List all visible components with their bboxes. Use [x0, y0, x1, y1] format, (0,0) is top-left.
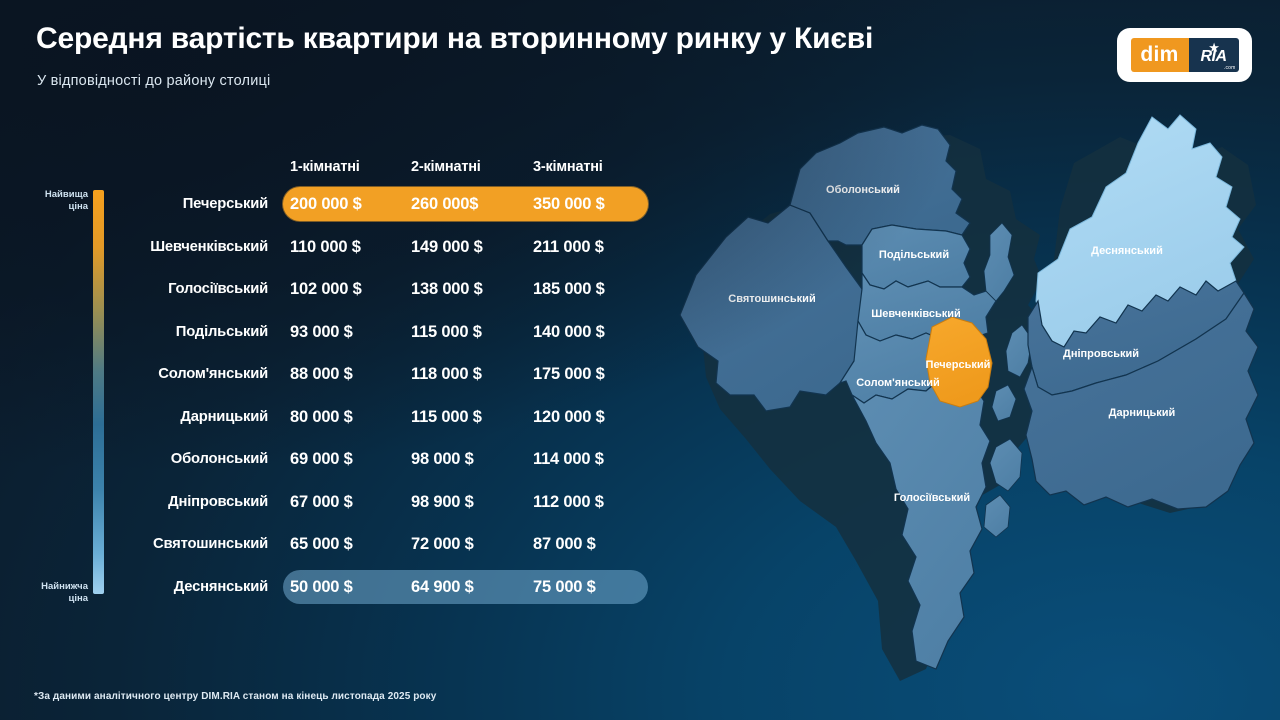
table-row[interactable]: Дарницький 80 000 $ 115 000 $ 120 000 $ — [120, 396, 660, 439]
cell-2room: 115 000 $ — [411, 315, 529, 349]
row-pill: 65 000 $ 72 000 $ 87 000 $ — [283, 527, 648, 561]
legend-lowest-line2: ціна — [26, 593, 88, 605]
logo-ria-block: ★ RIA .com — [1189, 38, 1239, 72]
table-row[interactable]: Голосіївський 102 000 $ 138 000 $ 185 00… — [120, 268, 660, 311]
logo-inner: dim ★ RIA .com — [1131, 38, 1239, 72]
row-pill: 80 000 $ 115 000 $ 120 000 $ — [283, 400, 648, 434]
cell-1room: 102 000 $ — [290, 272, 408, 306]
cell-3room: 120 000 $ — [533, 400, 653, 434]
row-pill: 50 000 $ 64 900 $ 75 000 $ — [283, 570, 648, 604]
source-footnote: *За даними аналітичного центру DIM.RIA с… — [34, 691, 436, 702]
cell-1room: 200 000 $ — [290, 187, 408, 221]
column-header-2room: 2-кімнатні — [411, 159, 481, 175]
row-pill: 88 000 $ 118 000 $ 175 000 $ — [283, 357, 648, 391]
table-row[interactable]: Печерський 200 000 $ 260 000$ 350 000 $ — [120, 183, 660, 226]
cell-3room: 175 000 $ — [533, 357, 653, 391]
cell-2room: 149 000 $ — [411, 230, 529, 264]
cell-1room: 80 000 $ — [290, 400, 408, 434]
cell-1room: 88 000 $ — [290, 357, 408, 391]
page-subtitle: У відповідності до району столиці — [37, 73, 270, 89]
cell-1room: 69 000 $ — [290, 442, 408, 476]
row-pill: 200 000 $ 260 000$ 350 000 $ — [283, 187, 648, 221]
row-district-label: Подільський — [120, 311, 268, 354]
row-district-label: Деснянський — [120, 566, 268, 609]
cell-3room: 114 000 $ — [533, 442, 653, 476]
cell-3room: 211 000 $ — [533, 230, 653, 264]
table-row[interactable]: Подільський 93 000 $ 115 000 $ 140 000 $ — [120, 311, 660, 354]
row-district-label: Солом'янський — [120, 353, 268, 396]
row-pill: 69 000 $ 98 000 $ 114 000 $ — [283, 442, 648, 476]
row-district-label: Печерський — [120, 183, 268, 226]
page-title: Середня вартість квартири на вторинному … — [36, 22, 873, 56]
cell-3room: 140 000 $ — [533, 315, 653, 349]
logo-dim-text: dim — [1131, 38, 1189, 72]
row-pill: 67 000 $ 98 900 $ 112 000 $ — [283, 485, 648, 519]
table-row[interactable]: Оболонський 69 000 $ 98 000 $ 114 000 $ — [120, 438, 660, 481]
row-pill: 93 000 $ 115 000 $ 140 000 $ — [283, 315, 648, 349]
cell-3room: 75 000 $ — [533, 570, 653, 604]
cell-3room: 350 000 $ — [533, 187, 653, 221]
logo-domain-text: .com — [1224, 65, 1236, 71]
cell-3room: 87 000 $ — [533, 527, 653, 561]
cell-3room: 185 000 $ — [533, 272, 653, 306]
table-row[interactable]: Дніпровський 67 000 $ 98 900 $ 112 000 $ — [120, 481, 660, 524]
row-district-label: Оболонський — [120, 438, 268, 481]
price-gradient-legend — [93, 190, 104, 594]
cell-1room: 110 000 $ — [290, 230, 408, 264]
row-pill: 102 000 $ 138 000 $ 185 000 $ — [283, 272, 648, 306]
table-row[interactable]: Святошинський 65 000 $ 72 000 $ 87 000 $ — [120, 523, 660, 566]
row-district-label: Дарницький — [120, 396, 268, 439]
dim-ria-logo[interactable]: dim ★ RIA .com — [1117, 28, 1252, 82]
legend-highest-line1: Найвища — [26, 189, 88, 201]
row-district-label: Голосіївський — [120, 268, 268, 311]
column-header-1room: 1-кімнатні — [290, 159, 360, 175]
column-header-3room: 3-кімнатні — [533, 159, 603, 175]
cell-2room: 260 000$ — [411, 187, 529, 221]
cell-1room: 67 000 $ — [290, 485, 408, 519]
row-pill: 110 000 $ 149 000 $ 211 000 $ — [283, 230, 648, 264]
cell-1room: 65 000 $ — [290, 527, 408, 561]
cell-2room: 98 900 $ — [411, 485, 529, 519]
cell-2room: 115 000 $ — [411, 400, 529, 434]
cell-1room: 93 000 $ — [290, 315, 408, 349]
cell-2room: 118 000 $ — [411, 357, 529, 391]
table-column-headers: 1-кімнатні 2-кімнатні 3-кімнатні — [120, 155, 660, 183]
cell-2room: 64 900 $ — [411, 570, 529, 604]
star-icon: ★ — [1208, 41, 1220, 54]
cell-2room: 98 000 $ — [411, 442, 529, 476]
row-district-label: Святошинський — [120, 523, 268, 566]
table-row[interactable]: Шевченківський 110 000 $ 149 000 $ 211 0… — [120, 226, 660, 269]
table-row[interactable]: Солом'янський 88 000 $ 118 000 $ 175 000… — [120, 353, 660, 396]
cell-2room: 138 000 $ — [411, 272, 529, 306]
legend-highest-price: Найвища ціна — [26, 189, 88, 213]
legend-lowest-price: Найнижча ціна — [26, 581, 88, 605]
legend-lowest-line1: Найнижча — [26, 581, 88, 593]
table-row[interactable]: Деснянський 50 000 $ 64 900 $ 75 000 $ — [120, 566, 660, 609]
cell-2room: 72 000 $ — [411, 527, 529, 561]
price-table: 1-кімнатні 2-кімнатні 3-кімнатні Печерсь… — [120, 155, 660, 608]
cell-1room: 50 000 $ — [290, 570, 408, 604]
legend-highest-line2: ціна — [26, 201, 88, 213]
cell-3room: 112 000 $ — [533, 485, 653, 519]
row-district-label: Дніпровський — [120, 481, 268, 524]
row-district-label: Шевченківський — [120, 226, 268, 269]
